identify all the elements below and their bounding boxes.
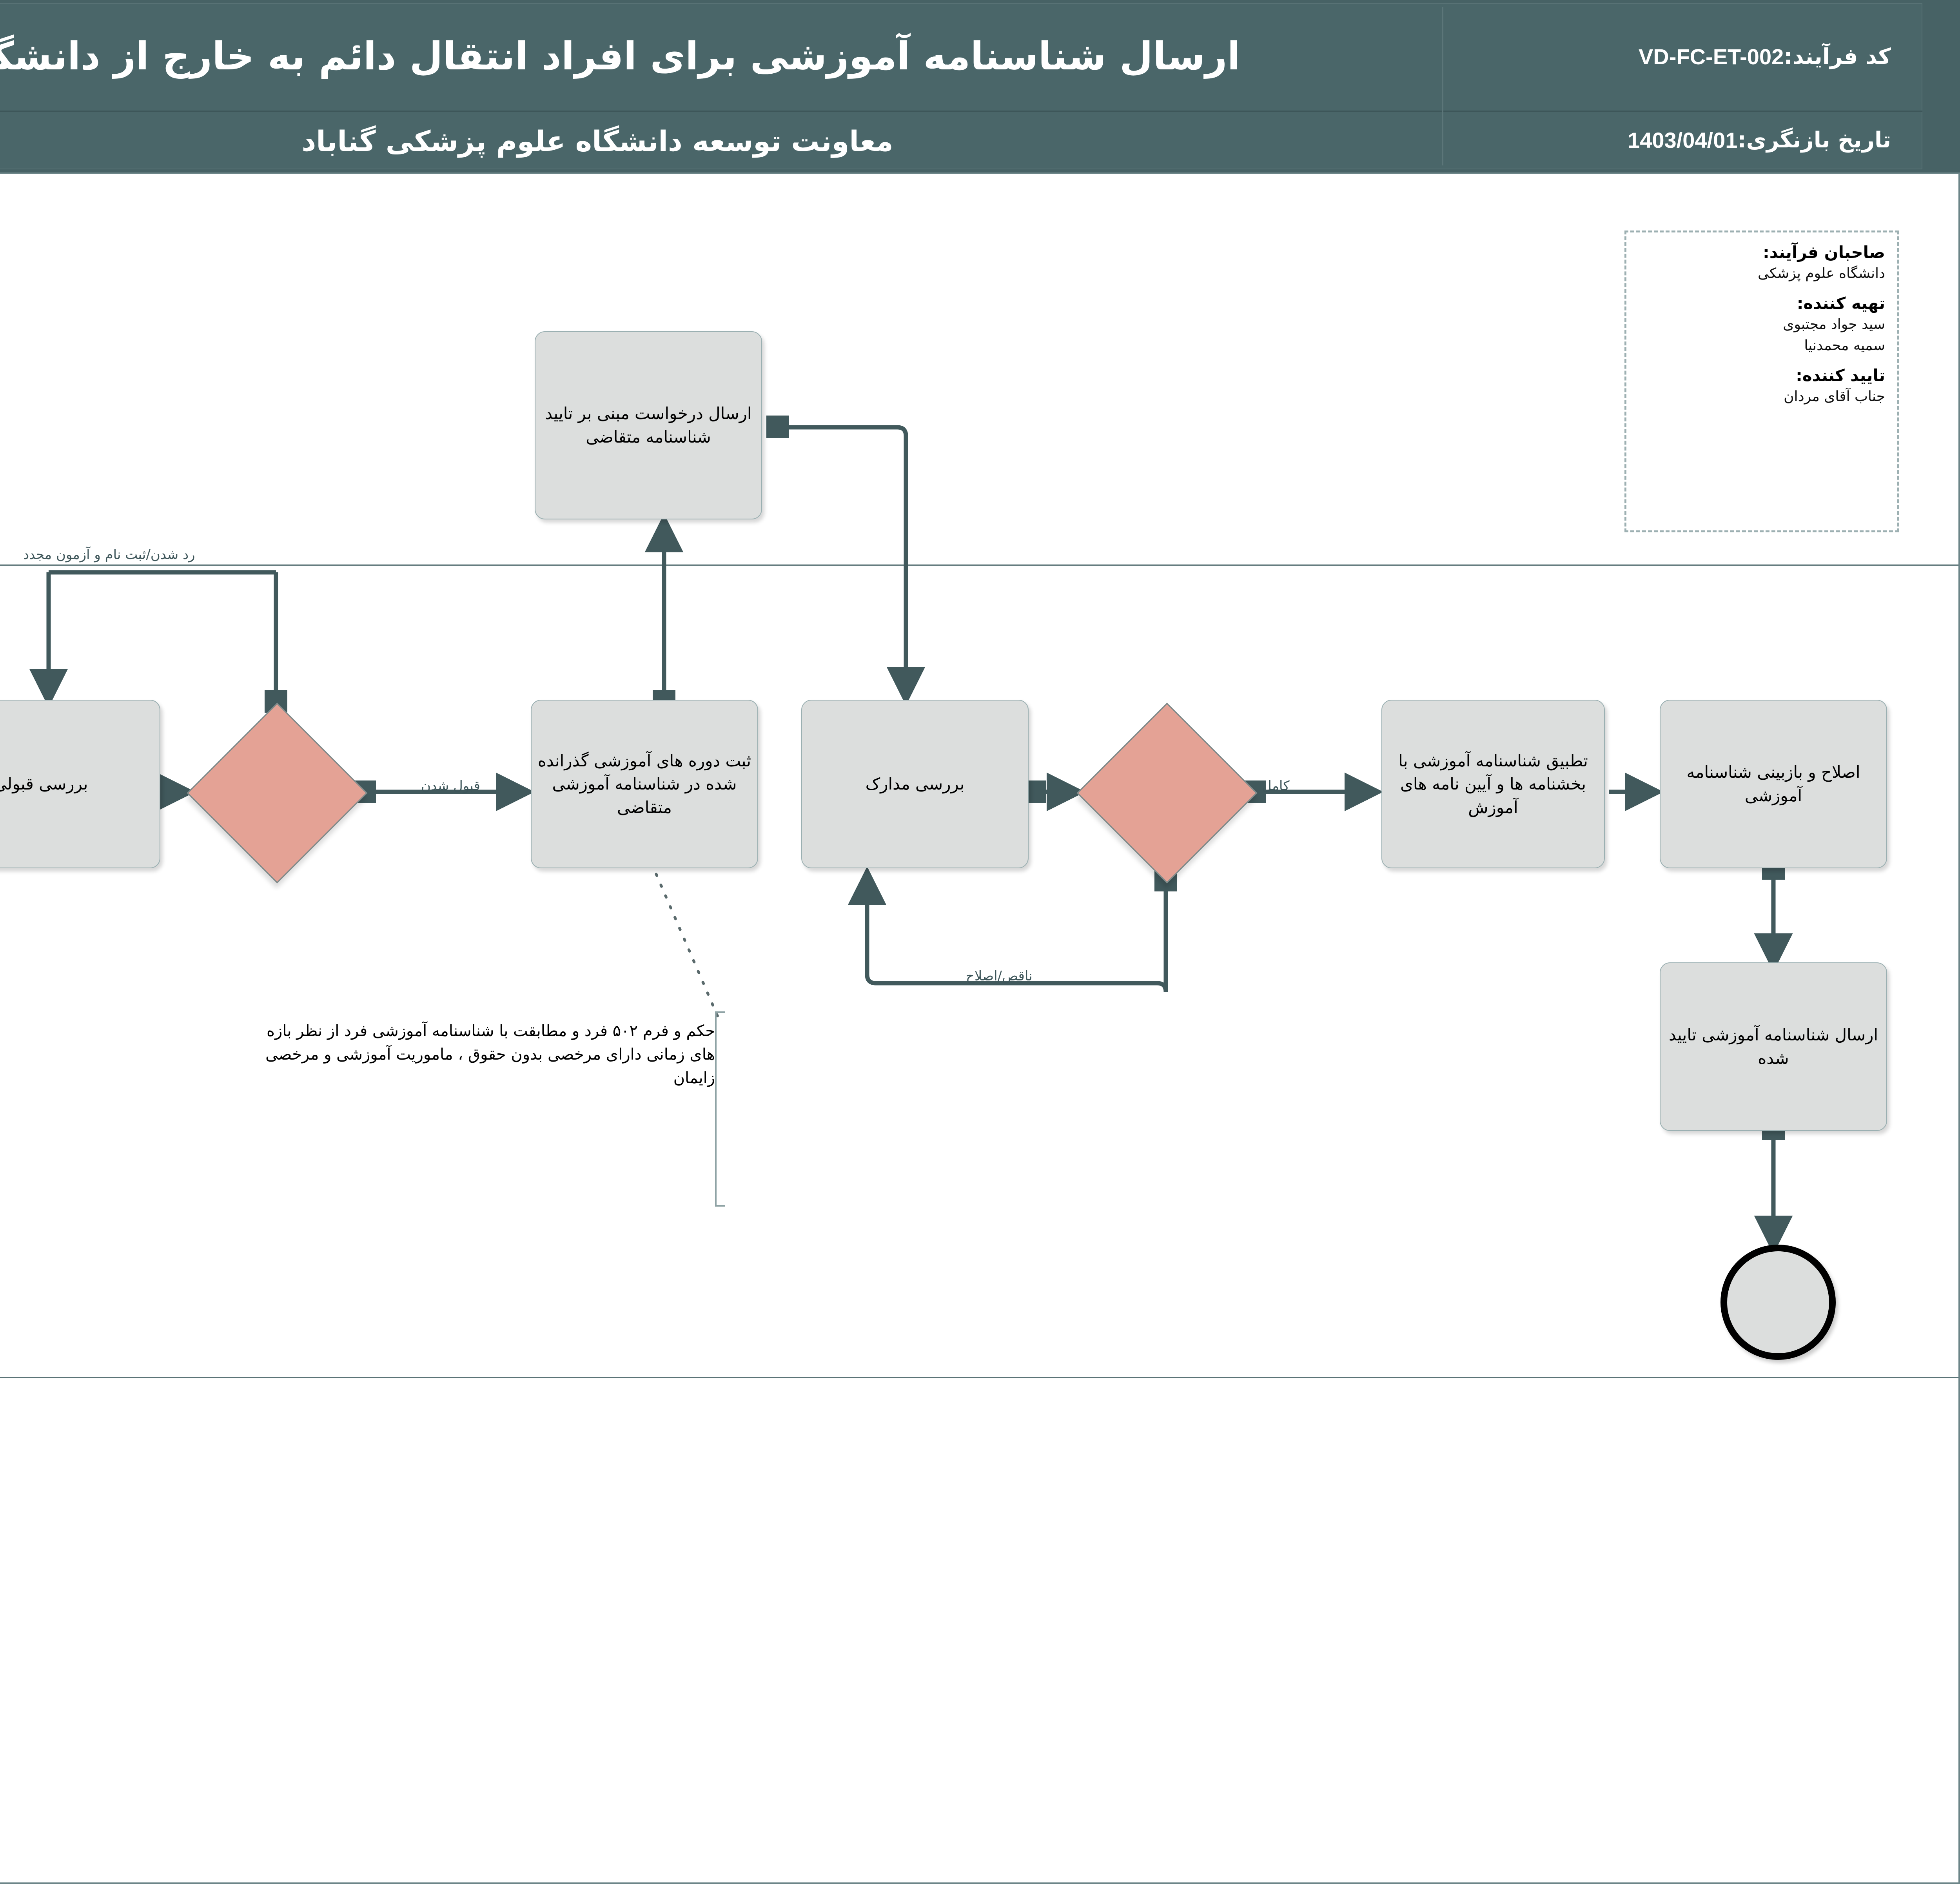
info-approver-label: تایید کننده:: [1638, 366, 1885, 385]
edge-label-incomplete: ناقص/اصلاح: [966, 968, 1033, 984]
edge-label-accepted: قبول شدن: [421, 778, 480, 794]
end-event[interactable]: [1720, 1245, 1836, 1360]
info-preparer-value-1: سید جواد مجتبوی: [1638, 315, 1885, 334]
task-t6-label: ارسال درخواست مبنی بر تایید شناسنامه متق…: [541, 402, 756, 448]
task-t9[interactable]: تطبیق شناسنامه آموزشی با بخشنامه ها و آی…: [1381, 700, 1605, 868]
task-t10[interactable]: اصلاح و بازبینی شناسنامه آموزشی: [1660, 700, 1887, 868]
task-t10-label: اصلاح و بازبینی شناسنامه آموزشی: [1666, 760, 1881, 807]
info-owner-value: دانشگاه علوم پزشکی: [1638, 264, 1885, 283]
bpmn-diagram-page: ارسال شناسنامه آموزشی برای افراد انتقال …: [0, 0, 1960, 1884]
task-t6[interactable]: ارسال درخواست مبنی بر تایید شناسنامه متق…: [535, 331, 762, 519]
task-t7[interactable]: ثبت دوره های آموزشی گذرانده شده در شناسن…: [531, 700, 758, 868]
task-t5-label: بررسی قبولی: [0, 772, 88, 796]
info-preparer-value-2: سمیه محمدنیا: [1638, 336, 1885, 356]
task-t8-label: بررسی مدارک: [866, 772, 965, 796]
info-preparer-label: تهیه کننده:: [1638, 294, 1885, 313]
task-t5[interactable]: بررسی قبولی: [0, 700, 160, 868]
gateway-g2[interactable]: [1076, 702, 1257, 883]
info-approver-value: جناب آقای مردان: [1638, 387, 1885, 407]
edge-label-complete: کامل: [1262, 778, 1290, 794]
annotation-text: حکم و فرم ۵۰۲ فرد و مطابقت با شناسنامه آ…: [260, 1019, 715, 1090]
task-t9-label: تطبیق شناسنامه آموزشی با بخشنامه ها و آی…: [1388, 749, 1599, 819]
task-t11[interactable]: ارسال شناسنامه آموزشی تایید شده: [1660, 962, 1887, 1131]
gateway-g1[interactable]: [187, 702, 367, 883]
process-info-box: صاحبان فرآیند: دانشگاه علوم پزشکی تهیه ک…: [1624, 231, 1899, 532]
info-owner-label: صاحبان فرآیند:: [1638, 243, 1885, 262]
task-t7-label: ثبت دوره های آموزشی گذرانده شده در شناسن…: [537, 749, 752, 819]
task-t8[interactable]: بررسی مدارک: [801, 700, 1029, 868]
edge-label-retry: رد شدن/ثبت نام و آزمون مجدد: [23, 547, 195, 563]
annotation-bracket: [715, 1011, 725, 1207]
task-t11-label: ارسال شناسنامه آموزشی تایید شده: [1666, 1023, 1881, 1070]
